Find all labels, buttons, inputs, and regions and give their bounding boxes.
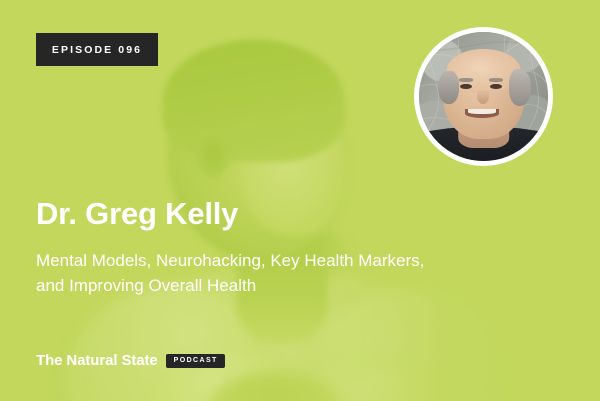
episode-subtitle: Mental Models, Neurohacking, Key Health … xyxy=(36,248,536,298)
guest-avatar xyxy=(414,27,553,166)
episode-number-badge: EPISODE 096 xyxy=(36,33,158,66)
avatar-teeth xyxy=(468,109,496,114)
episode-subtitle-line-2: and Improving Overall Health xyxy=(36,273,536,298)
show-branding: The Natural State PODCAST xyxy=(36,352,225,369)
guest-name-title: Dr. Greg Kelly xyxy=(36,196,238,232)
avatar-hair-left xyxy=(438,71,459,105)
avatar-hair-right xyxy=(509,69,531,105)
podcast-badge-label: PODCAST xyxy=(174,357,218,364)
avatar-nose xyxy=(477,89,489,104)
podcast-episode-card: EPISODE 096 xyxy=(0,0,600,401)
guest-avatar-photo xyxy=(419,32,548,161)
avatar-brow-right xyxy=(489,78,503,81)
episode-number-label: EPISODE 096 xyxy=(52,44,142,56)
podcast-badge: PODCAST xyxy=(166,354,225,368)
avatar-eye-left xyxy=(460,84,472,89)
avatar-eye-right xyxy=(490,84,502,89)
show-name-label: The Natural State xyxy=(36,352,158,369)
avatar-brow-left xyxy=(459,78,473,81)
episode-subtitle-line-1: Mental Models, Neurohacking, Key Health … xyxy=(36,248,536,273)
